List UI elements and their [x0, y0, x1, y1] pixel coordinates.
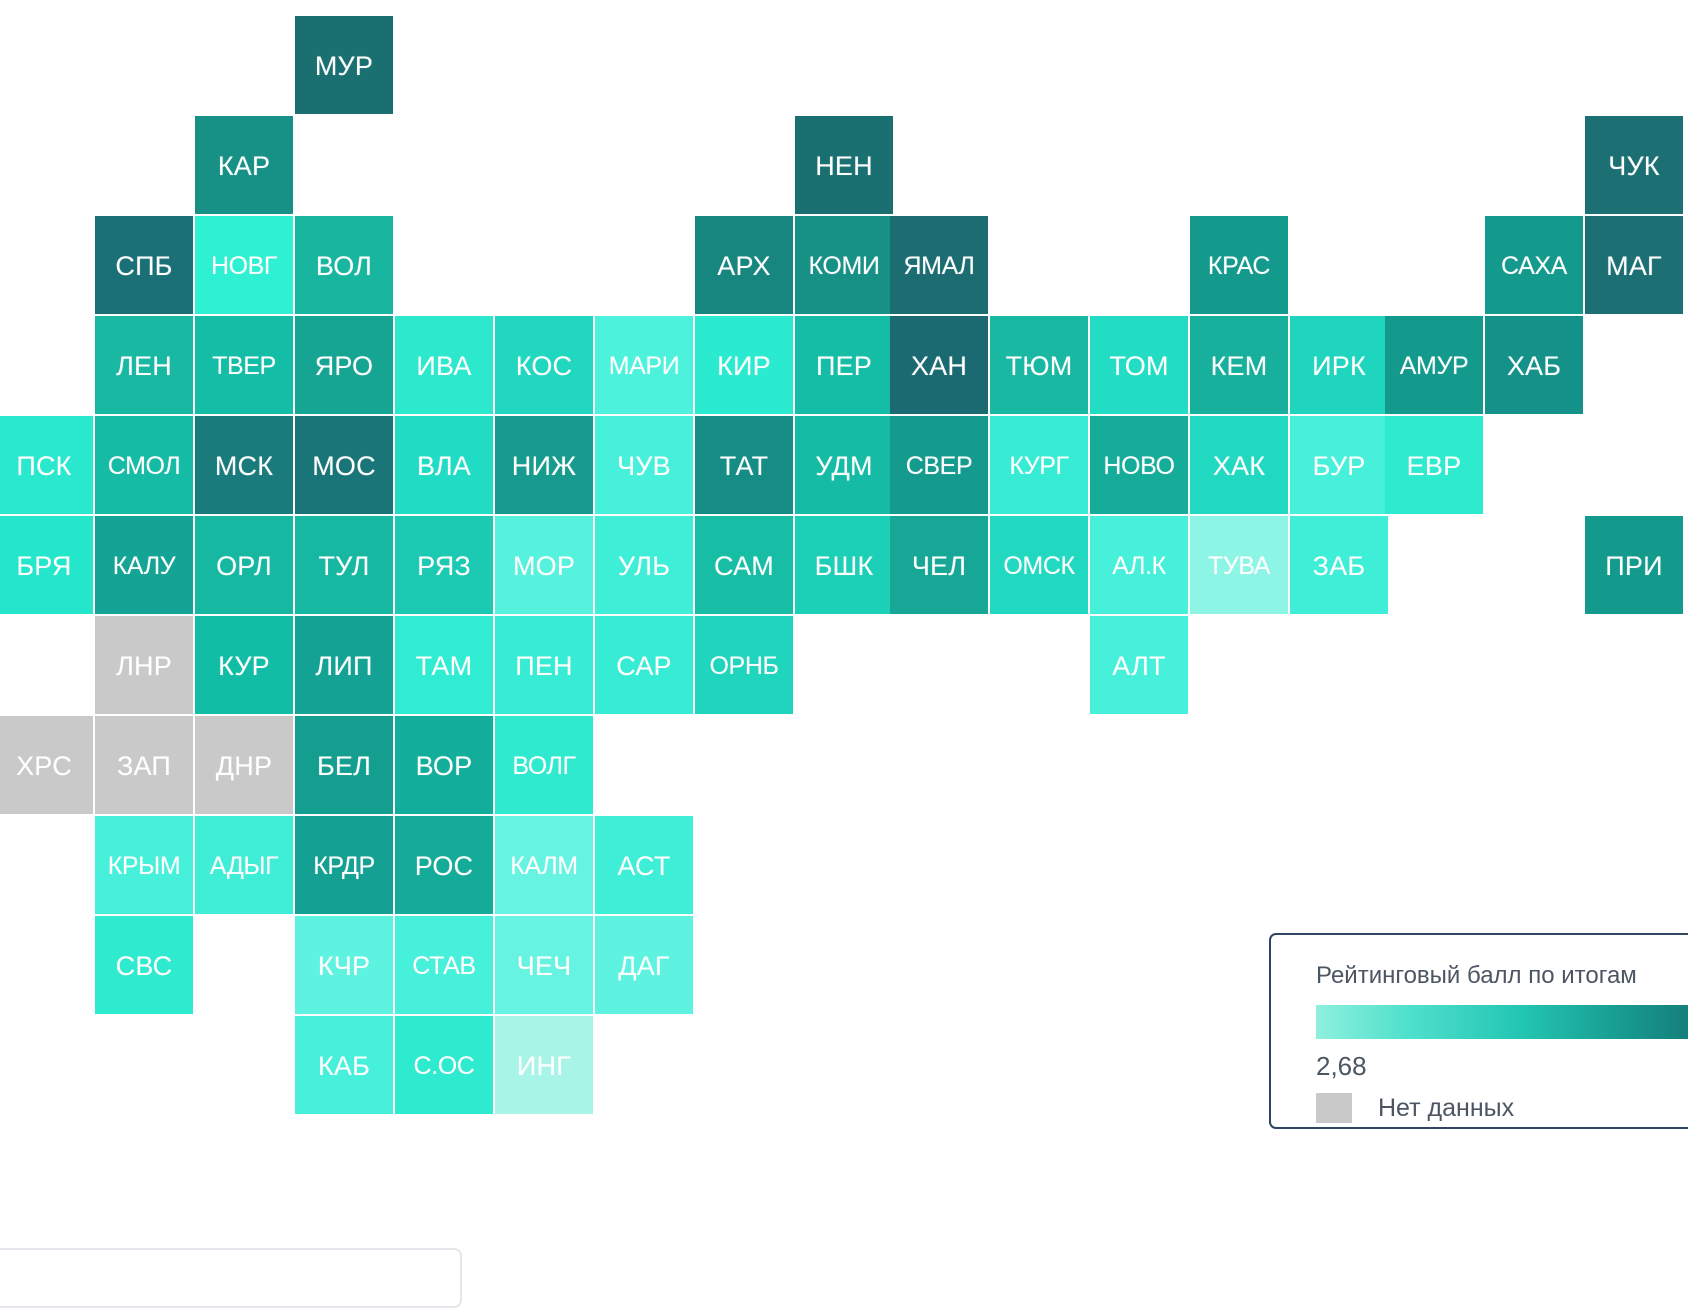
region-tile[interactable]: УЛЬ	[595, 516, 693, 614]
region-tile[interactable]: УДМ	[795, 416, 893, 514]
region-tile-label: ЯРО	[315, 353, 374, 380]
region-tile-label: ЧЕЛ	[912, 553, 966, 580]
region-tile-label: АСТ	[617, 853, 670, 880]
region-tile[interactable]: ОРЛ	[195, 516, 293, 614]
region-tile-label: НОВГ	[211, 254, 277, 279]
region-tile-label: БШК	[815, 553, 874, 580]
region-tile[interactable]: КОМИ	[795, 216, 893, 314]
region-tile-label: МСК	[215, 453, 273, 480]
region-tile[interactable]: МОР	[495, 516, 593, 614]
region-tile-label: СПБ	[115, 253, 172, 280]
region-tile-label: ВОР	[416, 753, 473, 780]
region-tile-label: АЛ.К	[1112, 554, 1166, 579]
region-tile[interactable]: САР	[595, 616, 693, 714]
region-tile-label: КУРГ	[1009, 454, 1068, 479]
region-tile-label: ПСК	[16, 453, 71, 480]
region-tile-label: ТУЛ	[318, 553, 369, 580]
region-tile[interactable]: ВЛА	[395, 416, 493, 514]
region-tile-label: МАРИ	[609, 354, 680, 379]
region-tile-label: ЛЕН	[116, 353, 172, 380]
region-tile-label: КОС	[516, 353, 573, 380]
region-tile[interactable]: КАЛУ	[95, 516, 193, 614]
region-tile-label: ХРС	[16, 753, 72, 780]
region-tile[interactable]: АРХ	[695, 216, 793, 314]
region-tile[interactable]: ЯРО	[295, 316, 393, 414]
region-tile-label: ТОМ	[1109, 353, 1168, 380]
region-tile[interactable]: ТАТ	[695, 416, 793, 514]
region-tile-label: ЧЕЧ	[517, 953, 572, 980]
region-tile[interactable]: ОРНБ	[695, 616, 793, 714]
region-tile-label: КИР	[717, 353, 771, 380]
region-tile[interactable]: БЕЛ	[295, 716, 393, 814]
region-tile[interactable]: ЛНР	[95, 616, 193, 714]
region-tile[interactable]: ТУВА	[1190, 516, 1288, 614]
region-tile-label: РОС	[415, 853, 474, 880]
region-tile[interactable]: ЛИП	[295, 616, 393, 714]
region-tile[interactable]: ЕВР	[1385, 416, 1483, 514]
region-tile[interactable]: АЛТ	[1090, 616, 1188, 714]
bottom-panel	[0, 1248, 462, 1308]
region-tile[interactable]: ЛЕН	[95, 316, 193, 414]
region-tile[interactable]: СТАВ	[395, 916, 493, 1014]
region-tile-label: УЛЬ	[618, 553, 670, 580]
region-tile[interactable]: ВОЛГ	[495, 716, 593, 814]
region-tile[interactable]: КУР	[195, 616, 293, 714]
region-tile-label: САР	[616, 653, 672, 680]
region-tile-label: САМ	[714, 553, 774, 580]
region-tile[interactable]: СПБ	[95, 216, 193, 314]
region-tile[interactable]: ТУЛ	[295, 516, 393, 614]
region-tile[interactable]: ЧУВ	[595, 416, 693, 514]
region-tile-label: ОРЛ	[216, 553, 272, 580]
region-tile-label: ДНР	[216, 753, 272, 780]
region-tile[interactable]: КРАС	[1190, 216, 1288, 314]
region-tile-label: АЛТ	[1112, 653, 1165, 680]
region-tile[interactable]: С.ОС	[395, 1016, 493, 1114]
region-tile[interactable]: АЛ.К	[1090, 516, 1188, 614]
region-tile[interactable]: ЗАП	[95, 716, 193, 814]
region-tile-label: ТУВА	[1208, 554, 1270, 579]
region-tile[interactable]: ХАБ	[1485, 316, 1583, 414]
region-tile-label: АМУР	[1400, 354, 1468, 379]
region-tile-label: ЛНР	[116, 653, 172, 680]
region-tile[interactable]: ЗАБ	[1290, 516, 1388, 614]
region-tile-label: МАГ	[1606, 253, 1662, 280]
region-tile[interactable]: ТВЕР	[195, 316, 293, 414]
region-tile[interactable]: ОМСК	[990, 516, 1088, 614]
region-tile[interactable]: ТОМ	[1090, 316, 1188, 414]
region-tile-label: КАЛМ	[510, 854, 577, 879]
region-tile[interactable]: БШК	[795, 516, 893, 614]
region-tile-label: БЕЛ	[317, 753, 371, 780]
region-tile-label: ЯМАЛ	[904, 254, 975, 279]
region-tile-label: ИРК	[1312, 353, 1366, 380]
region-tile[interactable]: ВОР	[395, 716, 493, 814]
region-tile[interactable]: КРЫМ	[95, 816, 193, 914]
region-tile-label: СМОЛ	[108, 454, 181, 479]
region-tile-label: ТВЕР	[212, 354, 276, 379]
region-tile-label: СТАВ	[412, 954, 475, 979]
region-tile[interactable]: АСТ	[595, 816, 693, 914]
region-tile[interactable]: РЯЗ	[395, 516, 493, 614]
region-tile[interactable]: САМ	[695, 516, 793, 614]
region-tile[interactable]: КАБ	[295, 1016, 393, 1114]
region-tile-label: КРЫМ	[108, 854, 181, 879]
region-tile-label: МОР	[513, 553, 575, 580]
region-tile[interactable]: КУРГ	[990, 416, 1088, 514]
region-tile-label: УДМ	[815, 453, 872, 480]
region-tile-label: ЧУК	[1608, 153, 1659, 180]
region-tile-label: НЕН	[815, 153, 873, 180]
region-tile-label: ЗАБ	[1313, 553, 1366, 580]
region-tile-label: МУР	[315, 53, 373, 80]
region-tile[interactable]: ЧЕЛ	[890, 516, 988, 614]
region-tile[interactable]: ИРК	[1290, 316, 1388, 414]
region-tile-label: КАР	[218, 153, 270, 180]
region-tile-label: КРАС	[1208, 254, 1270, 279]
region-tile-label: БРЯ	[16, 553, 71, 580]
region-tile-label: КЕМ	[1211, 353, 1268, 380]
region-tile[interactable]: ХРС	[0, 716, 93, 814]
region-tile[interactable]: ЯМАЛ	[890, 216, 988, 314]
region-tile[interactable]: МАРИ	[595, 316, 693, 414]
region-tile[interactable]: КИР	[695, 316, 793, 414]
region-tile[interactable]: ИНГ	[495, 1016, 593, 1114]
region-tile-label: ИНГ	[517, 1053, 571, 1080]
legend-min-value: 2,68	[1316, 1053, 1688, 1079]
region-tile[interactable]: КРДР	[295, 816, 393, 914]
region-tile[interactable]: МАГ	[1585, 216, 1683, 314]
region-tile-label: КАБ	[318, 1053, 370, 1080]
region-tile[interactable]: ПСК	[0, 416, 93, 514]
region-tile[interactable]: СВС	[95, 916, 193, 1014]
region-tile[interactable]: КАЛМ	[495, 816, 593, 914]
region-tile[interactable]: НИЖ	[495, 416, 593, 514]
region-tile-label: ДАГ	[618, 953, 670, 980]
region-tile-label: РЯЗ	[417, 553, 471, 580]
region-tile[interactable]: ПЕР	[795, 316, 893, 414]
region-tile[interactable]: БРЯ	[0, 516, 93, 614]
region-tile[interactable]: ДАГ	[595, 916, 693, 1014]
legend-nodata-label: Нет данных	[1378, 1096, 1514, 1121]
region-tile-label: ПЕН	[515, 653, 573, 680]
region-tile-label: СВЕР	[906, 454, 972, 479]
region-tile-label: ОРНБ	[710, 654, 779, 679]
region-tile-label: ХАК	[1213, 453, 1265, 480]
region-tile-label: КАЛУ	[113, 554, 175, 579]
region-tile[interactable]: МСК	[195, 416, 293, 514]
region-tile[interactable]: МУР	[295, 16, 393, 114]
legend-title: Рейтинговый балл по итогам	[1316, 963, 1688, 989]
region-tile[interactable]: РОС	[395, 816, 493, 914]
region-tile[interactable]: ЧУК	[1585, 116, 1683, 214]
region-tile-label: ЛИП	[315, 653, 372, 680]
region-tile-label: ПРИ	[1605, 553, 1662, 580]
region-tile-label: ЕВР	[1407, 453, 1462, 480]
region-tile[interactable]: АМУР	[1385, 316, 1483, 414]
region-tile[interactable]: ВОЛ	[295, 216, 393, 314]
region-tile-label: КОМИ	[809, 254, 880, 279]
region-tile-label: ТЮМ	[1006, 353, 1073, 380]
region-tile[interactable]: КЧР	[295, 916, 393, 1014]
legend-nodata-row: Нет данных	[1316, 1093, 1688, 1123]
region-tile-label: ЧУВ	[617, 453, 671, 480]
region-tile-label: ПЕР	[816, 353, 872, 380]
region-tile-label: АДЫГ	[210, 854, 279, 879]
region-tile[interactable]: САХА	[1485, 216, 1583, 314]
region-tile[interactable]: ПРИ	[1585, 516, 1683, 614]
region-tile[interactable]: КОС	[495, 316, 593, 414]
region-tile[interactable]: СВЕР	[890, 416, 988, 514]
region-tile-label: МОС	[312, 453, 376, 480]
legend-nodata-swatch	[1316, 1093, 1352, 1123]
region-tile-label: ХАБ	[1507, 353, 1561, 380]
region-tile[interactable]: ДНР	[195, 716, 293, 814]
region-tile-label: ТАМ	[416, 653, 473, 680]
region-tile-label: ОМСК	[1003, 554, 1074, 579]
region-tile[interactable]: БУР	[1290, 416, 1388, 514]
region-tile[interactable]: ПЕН	[495, 616, 593, 714]
region-tile[interactable]: НОВО	[1090, 416, 1188, 514]
region-tile-label: ВОЛ	[316, 253, 372, 280]
region-tile-label: АРХ	[717, 253, 770, 280]
region-tile-label: ВОЛГ	[512, 754, 575, 779]
region-tile[interactable]: СМОЛ	[95, 416, 193, 514]
region-tile[interactable]: ЧЕЧ	[495, 916, 593, 1014]
region-tile[interactable]: ХАК	[1190, 416, 1288, 514]
region-tile[interactable]: МОС	[295, 416, 393, 514]
region-tile-label: НИЖ	[512, 453, 576, 480]
region-tile[interactable]: ХАН	[890, 316, 988, 414]
region-tile-label: ВЛА	[417, 453, 471, 480]
region-tile-label: КЧР	[318, 953, 370, 980]
region-tile[interactable]: ИВА	[395, 316, 493, 414]
region-tile[interactable]: НЕН	[795, 116, 893, 214]
region-tile-label: ХАН	[911, 353, 967, 380]
region-tile-label: СВС	[116, 953, 173, 980]
region-tile-label: КРДР	[313, 854, 375, 879]
region-tile-label: С.ОС	[414, 1054, 475, 1079]
region-tile-label: БУР	[1313, 453, 1366, 480]
region-tile[interactable]: ТЮМ	[990, 316, 1088, 414]
region-tile-label: КУР	[218, 653, 270, 680]
region-tile[interactable]: ТАМ	[395, 616, 493, 714]
region-tile[interactable]: АДЫГ	[195, 816, 293, 914]
region-tile-label: ЗАП	[117, 753, 171, 780]
region-tile-label: ТАТ	[720, 453, 769, 480]
region-tile[interactable]: НОВГ	[195, 216, 293, 314]
region-tile[interactable]: КЕМ	[1190, 316, 1288, 414]
region-tile-label: ИВА	[416, 353, 471, 380]
region-tile-label: НОВО	[1103, 454, 1174, 479]
legend-color-ramp	[1316, 1005, 1688, 1039]
region-tile-label: САХА	[1501, 254, 1567, 279]
region-tile[interactable]: КАР	[195, 116, 293, 214]
legend-card: Рейтинговый балл по итогам 2,68 Нет данн…	[1269, 933, 1688, 1129]
